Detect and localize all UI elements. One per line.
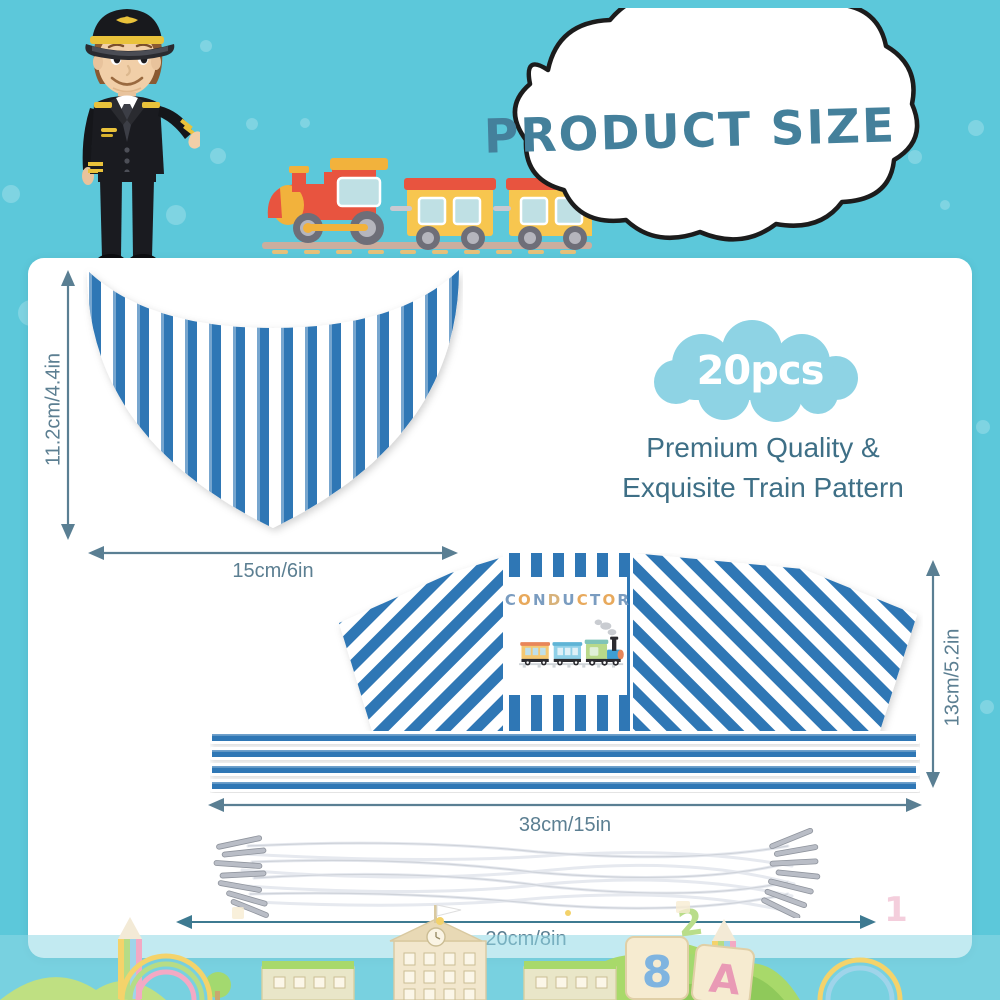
conductor-label: CONDUCTOR <box>505 591 631 609</box>
dimension-arrow-crown-width <box>208 796 922 814</box>
title-cloud: PRODUCT SIZE <box>430 8 950 258</box>
tagline-line-2: Exquisite Train Pattern <box>568 468 958 508</box>
striped-hat-brim <box>83 266 463 538</box>
striped-hat-band <box>210 731 920 793</box>
background-bubble <box>968 120 984 136</box>
dimension-label-brim-height: 11.2cm/4.4in <box>43 340 66 480</box>
background-bubble <box>200 40 212 52</box>
background-bubble <box>210 148 226 164</box>
dimension-label-crown-width: 38cm/15in <box>208 814 922 837</box>
svg-text:8: 8 <box>642 947 673 998</box>
dimension-arrow-crown-height <box>923 560 943 788</box>
background-bubble <box>976 420 990 434</box>
quantity-badge-cloud: 20pcs <box>640 320 880 430</box>
tagline: Premium Quality & Exquisite Train Patter… <box>568 428 958 508</box>
product-size-card: 20pcs Premium Quality & Exquisite Train … <box>28 258 972 958</box>
tagline-line-1: Premium Quality & <box>568 428 958 468</box>
background-bubble <box>300 118 310 128</box>
background-bubble <box>246 118 258 130</box>
dimension-label-brim-width: 15cm/6in <box>88 560 458 583</box>
background-bubble <box>2 185 20 203</box>
school-city-decoration: 8 A 2 1 <box>0 895 1000 1000</box>
quantity-badge-label: 20pcs <box>640 348 880 394</box>
dimension-label-crown-height: 13cm/5.2in <box>942 608 965 748</box>
svg-text:1: 1 <box>884 895 908 930</box>
background-bubble <box>980 700 994 714</box>
svg-text:A: A <box>707 956 743 1000</box>
pilot-conductor-character <box>60 0 200 275</box>
